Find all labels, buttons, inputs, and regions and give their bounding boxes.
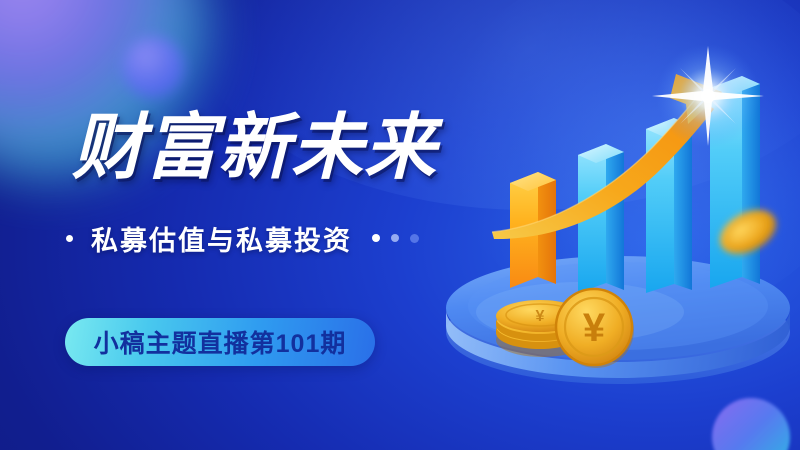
finance-illustration: ¥ ¥	[430, 40, 800, 400]
trailing-dots	[372, 234, 419, 243]
subtitle-row: 私募估值与私募投资	[66, 219, 419, 257]
decorative-circle-top-left	[122, 36, 184, 98]
svg-text:¥: ¥	[583, 306, 606, 350]
trailing-dot-3-icon	[410, 234, 419, 243]
trailing-dot-1-icon	[372, 234, 380, 242]
episode-badge[interactable]: 小稿主题直播第101期	[65, 318, 375, 366]
svg-text:¥: ¥	[536, 308, 545, 325]
subtitle-text: 私募估值与私募投资	[91, 219, 352, 258]
poster-canvas: ¥ ¥ 财富新未来 私募估值与私募投资	[0, 0, 800, 450]
episode-badge-label: 小稿主题直播第101期	[94, 324, 347, 360]
trailing-dot-2-icon	[391, 234, 399, 242]
decorative-circle-bottom-right	[712, 398, 790, 450]
bullet-dot-icon	[66, 235, 73, 242]
page-title: 财富新未来	[72, 112, 437, 184]
